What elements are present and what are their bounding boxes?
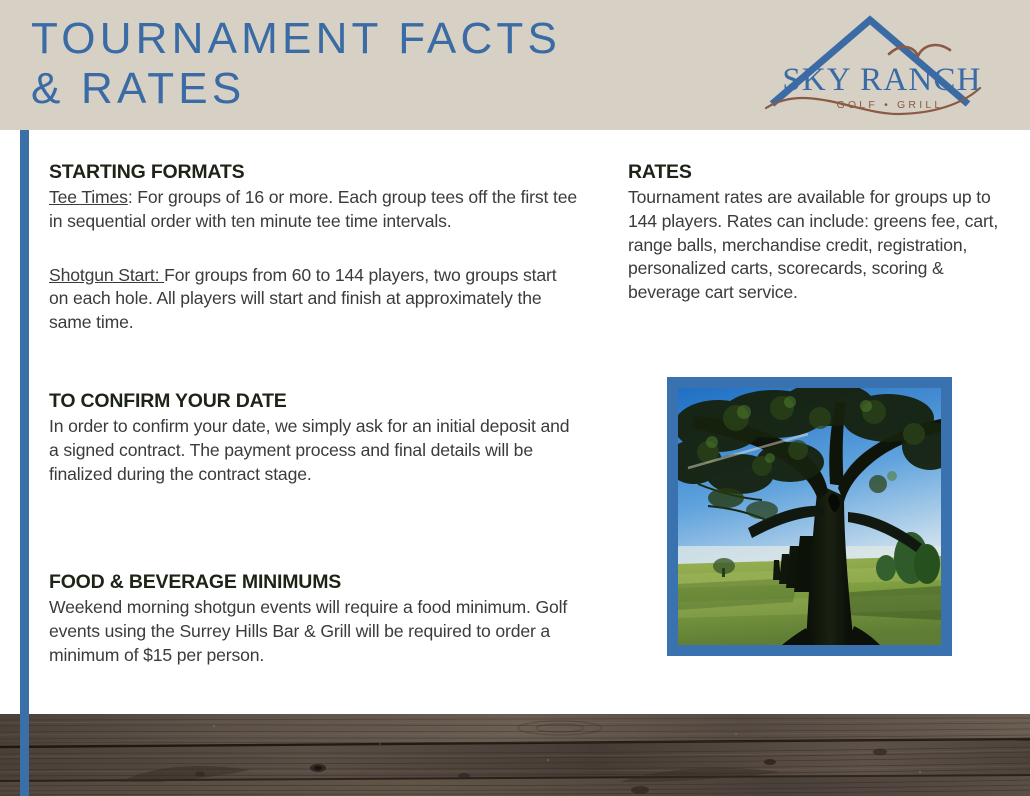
paragraph-tee-times: Tee Times: For groups of 16 or more. Eac… [49, 186, 579, 234]
paragraph-text: : For groups of 16 or more. Each group t… [49, 187, 577, 231]
section-heading: RATES [628, 160, 1008, 184]
page-title: Tournament Facts & Rates [31, 14, 651, 114]
left-content-column: STARTING FORMATS Tee Times: For groups o… [49, 160, 579, 668]
course-photo [678, 388, 941, 645]
sky-ranch-logo: SKY RANCH GOLF • GRILL [762, 12, 1002, 120]
spacer [49, 234, 579, 264]
section-heading: FOOD & BEVERAGE MINIMUMS [49, 570, 579, 594]
section-confirm-date: TO CONFIRM YOUR DATE In order to confirm… [49, 389, 579, 486]
spacer [49, 486, 579, 540]
wood-footer-texture [0, 714, 1030, 796]
slide-page: Tournament Facts & Rates SKY RANCH GOLF … [0, 0, 1030, 796]
paragraph-confirm-date: In order to confirm your date, we simply… [49, 415, 579, 486]
spacer [49, 335, 579, 389]
paragraph-food-beverage: Weekend morning shotgun events will requ… [49, 596, 579, 667]
left-accent-rule [20, 130, 29, 796]
section-heading: STARTING FORMATS [49, 160, 579, 184]
svg-text:GOLF • GRILL: GOLF • GRILL [837, 99, 944, 111]
paragraph-lead: Shotgun Start: [49, 265, 164, 285]
header-band: Tournament Facts & Rates SKY RANCH GOLF … [0, 0, 1030, 130]
section-food-beverage: FOOD & BEVERAGE MINIMUMS Weekend morning… [49, 570, 579, 667]
paragraph-lead: Tee Times [49, 187, 128, 207]
section-heading: TO CONFIRM YOUR DATE [49, 389, 579, 413]
section-starting-formats: STARTING FORMATS Tee Times: For groups o… [49, 160, 579, 335]
right-content-column: RATES Tournament rates are available for… [628, 160, 1008, 305]
svg-text:SKY RANCH: SKY RANCH [782, 62, 981, 98]
paragraph-shotgun-start: Shotgun Start: For groups from 60 to 144… [49, 264, 579, 335]
section-rates: RATES Tournament rates are available for… [628, 160, 1008, 305]
course-photo-frame [667, 377, 952, 656]
paragraph-rates: Tournament rates are available for group… [628, 186, 1008, 305]
spacer [49, 540, 579, 570]
